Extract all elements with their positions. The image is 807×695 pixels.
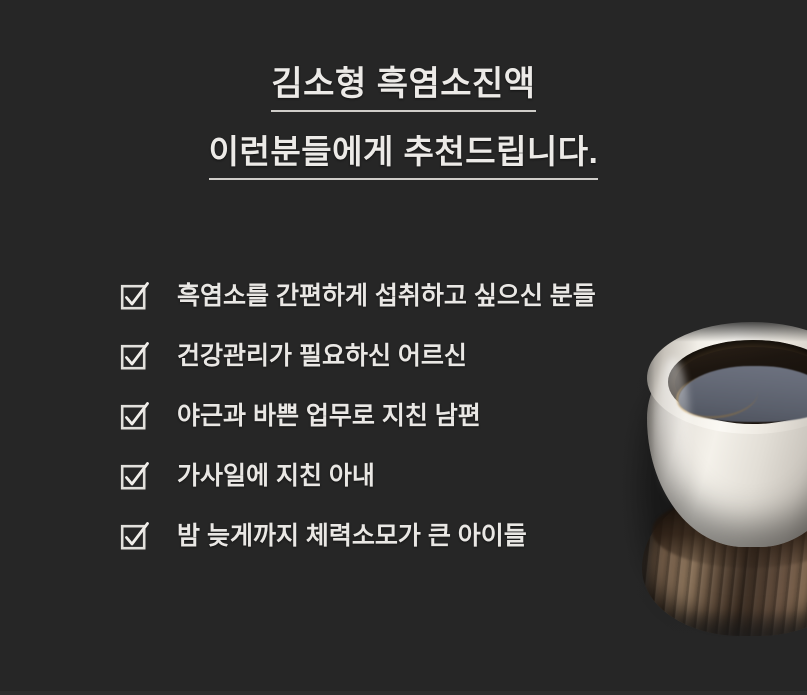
checkbox-checked-icon xyxy=(120,521,150,551)
list-item: 밤 늦게까지 체력소모가 큰 아이들 xyxy=(120,506,680,566)
list-item: 건강관리가 필요하신 어르신 xyxy=(120,326,680,386)
checkbox-checked-icon xyxy=(120,401,150,431)
list-item: 흑염소를 간편하게 섭취하고 싶으신 분들 xyxy=(120,266,680,326)
checkbox-checked-icon xyxy=(120,461,150,491)
title-row-2: 이런분들에게 추천드립니다. xyxy=(0,132,807,180)
list-item: 야근과 바쁜 업무로 지친 남편 xyxy=(120,386,680,446)
page-title: 김소형 흑염소진액 이런분들에게 추천드립니다. xyxy=(0,64,807,180)
bowl-specular-sheen xyxy=(656,358,690,508)
list-item: 가사일에 지친 아내 xyxy=(120,446,680,506)
goat-extract-bowl-photo xyxy=(612,318,807,658)
list-item-label: 가사일에 지친 아내 xyxy=(177,461,375,491)
advertisement-page: 김소형 흑염소진액 이런분들에게 추천드립니다. 흑염소를 간편하게 섭취하고 … xyxy=(0,0,807,695)
recommendation-checklist: 흑염소를 간편하게 섭취하고 싶으신 분들 건강관리가 필요하신 어르신 야근과… xyxy=(120,266,680,566)
bottom-edge-strip xyxy=(0,691,807,695)
list-item-label: 밤 늦게까지 체력소모가 큰 아이들 xyxy=(177,521,527,551)
title-line-1: 김소형 흑염소진액 xyxy=(271,64,535,112)
title-row-1: 김소형 흑염소진액 xyxy=(0,64,807,112)
checkbox-checked-icon xyxy=(120,281,150,311)
list-item-label: 건강관리가 필요하신 어르신 xyxy=(177,341,467,371)
list-item-label: 야근과 바쁜 업무로 지친 남편 xyxy=(177,401,481,431)
checkbox-checked-icon xyxy=(120,341,150,371)
title-line-2: 이런분들에게 추천드립니다. xyxy=(209,132,599,180)
list-item-label: 흑염소를 간편하게 섭취하고 싶으신 분들 xyxy=(177,281,596,311)
